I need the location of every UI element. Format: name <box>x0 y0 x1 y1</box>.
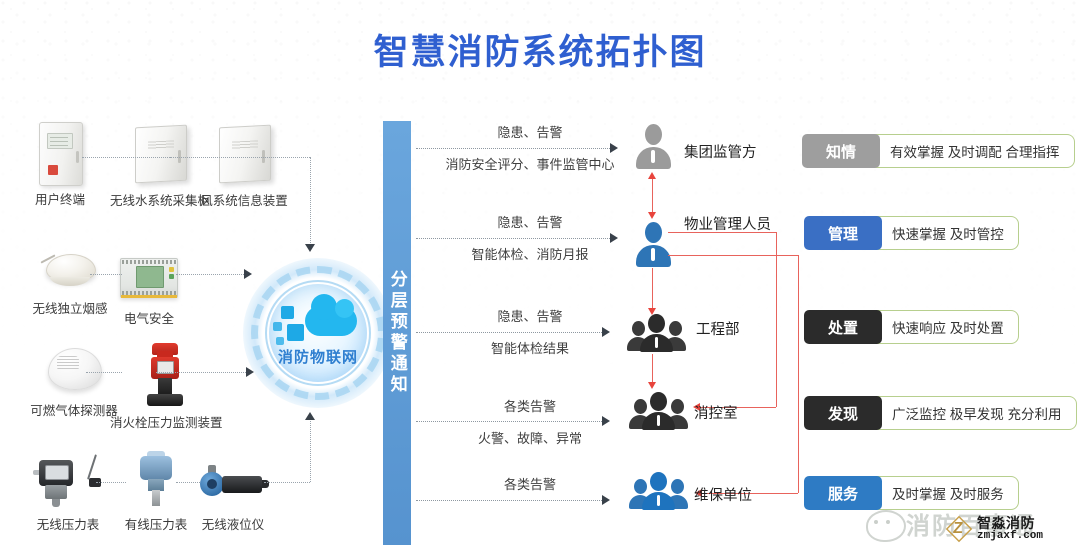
cabinet-icon <box>219 126 269 182</box>
hub-label: 消防物联网 <box>243 346 393 367</box>
role-link-arrow-icon <box>648 382 656 389</box>
hydrant-icon <box>143 340 187 406</box>
capability-box[interactable]: 服务 及时掌握 及时服务 <box>804 476 1019 510</box>
capability-desc: 快速响应 及时处置 <box>874 310 1019 344</box>
device-connector <box>176 274 244 275</box>
device-label: 可燃气体探测器 <box>30 400 118 419</box>
electrical-module-icon <box>120 258 178 298</box>
capability-desc: 快速掌握 及时管控 <box>874 216 1019 250</box>
capability-box[interactable]: 处置 快速响应 及时处置 <box>804 310 1019 344</box>
role-link-line <box>652 176 653 214</box>
capability-tag: 处置 <box>804 310 882 344</box>
flow-label-top: 各类告警 <box>440 396 620 415</box>
role-label: 工程部 <box>696 318 740 339</box>
device-item: 风系统信息装置 <box>196 126 292 209</box>
control-cabinet-icon <box>39 122 81 186</box>
device-label: 用户终端 <box>24 189 96 208</box>
flow-label-top: 各类告警 <box>440 474 620 493</box>
flow-label-bottom: 火警、故障、异常 <box>432 428 628 447</box>
iot-cloud-hub: 消防物联网 <box>243 258 393 408</box>
layered-alert-bar: 分层预警通知 <box>383 121 411 545</box>
flow-line <box>416 332 602 333</box>
role-link-line <box>668 255 798 256</box>
logo-mark-icon: Z <box>946 516 972 542</box>
device-item: 无线液位仪 <box>196 466 270 533</box>
people-blue-icon <box>628 472 690 508</box>
device-connector-arrow-icon <box>305 412 315 420</box>
person-blue-icon <box>634 222 672 266</box>
device-item: 用户终端 <box>24 122 96 208</box>
flow-arrow-icon <box>602 327 610 337</box>
device-connector <box>96 482 126 483</box>
role-label: 消控室 <box>694 402 738 423</box>
flow-label-top: 隐患、告警 <box>440 212 620 231</box>
flow-label-bottom: 智能体检、消防月报 <box>430 244 630 263</box>
device-label: 电气安全 <box>118 308 180 327</box>
role-link-line <box>668 232 776 233</box>
device-item: 消火栓压力监测装置 <box>110 340 220 431</box>
capability-desc: 及时掌握 及时服务 <box>874 476 1019 510</box>
role-label: 维保单位 <box>694 484 752 505</box>
flow-line <box>416 500 602 501</box>
device-item: 无线独立烟感 <box>30 252 110 317</box>
role-link-arrow-icon <box>648 172 656 179</box>
logo-name: 智淼消防 <box>977 516 1043 531</box>
role-link-line <box>652 268 653 310</box>
gas-detector-icon <box>48 348 100 392</box>
capability-box[interactable]: 发现 广泛监控 极早发现 充分利用 <box>804 396 1077 430</box>
capability-box[interactable]: 管理 快速掌握 及时管控 <box>804 216 1019 250</box>
smoke-detector-icon <box>42 252 98 286</box>
flow-label-top: 隐患、告警 <box>440 122 620 141</box>
wireless-pressure-gauge-icon <box>33 456 103 504</box>
role-link-line <box>798 255 799 493</box>
capability-box[interactable]: 知情 有效掌握 及时调配 合理指挥 <box>802 134 1075 168</box>
device-connector <box>310 157 311 247</box>
device-label: 无线压力表 <box>22 514 114 533</box>
flow-arrow-icon <box>610 233 618 243</box>
device-label: 消火栓压力监测装置 <box>110 412 220 431</box>
device-connector <box>170 157 310 158</box>
people-dark-icon <box>628 392 690 428</box>
capability-tag: 发现 <box>804 396 882 430</box>
device-item: 无线压力表 <box>22 456 114 533</box>
layered-alert-bar-label: 分层预警通知 <box>387 270 407 396</box>
device-connector <box>90 274 122 275</box>
device-label: 有线压力表 <box>124 514 188 533</box>
capability-desc: 有效掌握 及时调配 合理指挥 <box>872 134 1075 168</box>
capability-tag: 知情 <box>802 134 880 168</box>
capability-tag: 服务 <box>804 476 882 510</box>
role-label: 集团监管方 <box>684 141 757 162</box>
flow-arrow-icon <box>602 416 610 426</box>
role-link-arrow-icon <box>648 212 656 219</box>
flow-arrow-icon <box>610 143 618 153</box>
device-item: 有线压力表 <box>124 456 188 533</box>
flow-line <box>416 148 610 149</box>
page-title: 智慧消防系统拓扑图 <box>0 24 1080 75</box>
device-item: 可燃气体探测器 <box>30 348 118 419</box>
device-connector <box>86 372 122 373</box>
device-label: 无线液位仪 <box>196 514 270 533</box>
topology-diagram-canvas: 智慧消防系统拓扑图 用户终端 无线水系统采集柜 风系统信息装置 无线独立烟感 电… <box>0 0 1080 556</box>
device-label: 无线独立烟感 <box>30 298 110 317</box>
people-dark-icon <box>626 314 688 350</box>
device-connector <box>310 418 311 482</box>
device-connector <box>264 482 310 483</box>
device-connector <box>176 482 200 483</box>
device-connector <box>156 372 246 373</box>
flow-label-bottom: 智能体检结果 <box>440 338 620 357</box>
role-link-line <box>652 354 653 384</box>
device-connector-arrow-icon <box>305 244 315 252</box>
flow-label-top: 隐患、告警 <box>440 306 620 325</box>
capability-tag: 管理 <box>804 216 882 250</box>
logo-site: zmjaxf.com <box>977 531 1043 543</box>
brand-logo: Z 智淼消防 zmjaxf.com <box>946 516 1043 542</box>
flow-line <box>416 421 602 422</box>
capability-desc: 广泛监控 极早发现 充分利用 <box>874 396 1077 430</box>
flow-arrow-icon <box>602 495 610 505</box>
level-meter-icon <box>200 466 266 500</box>
person-gray-icon <box>634 124 672 168</box>
role-label: 物业管理人员 <box>684 213 771 234</box>
device-label: 风系统信息装置 <box>196 190 292 209</box>
cloud-icon <box>305 306 357 336</box>
cabinet-icon <box>135 126 185 182</box>
role-link-line <box>776 232 777 407</box>
wired-pressure-gauge-icon <box>134 456 178 506</box>
flow-label-bottom: 消防安全评分、事件监管中心 <box>420 154 640 173</box>
device-connector <box>82 157 182 158</box>
flow-line <box>416 238 610 239</box>
device-item: 电气安全 <box>118 258 180 327</box>
